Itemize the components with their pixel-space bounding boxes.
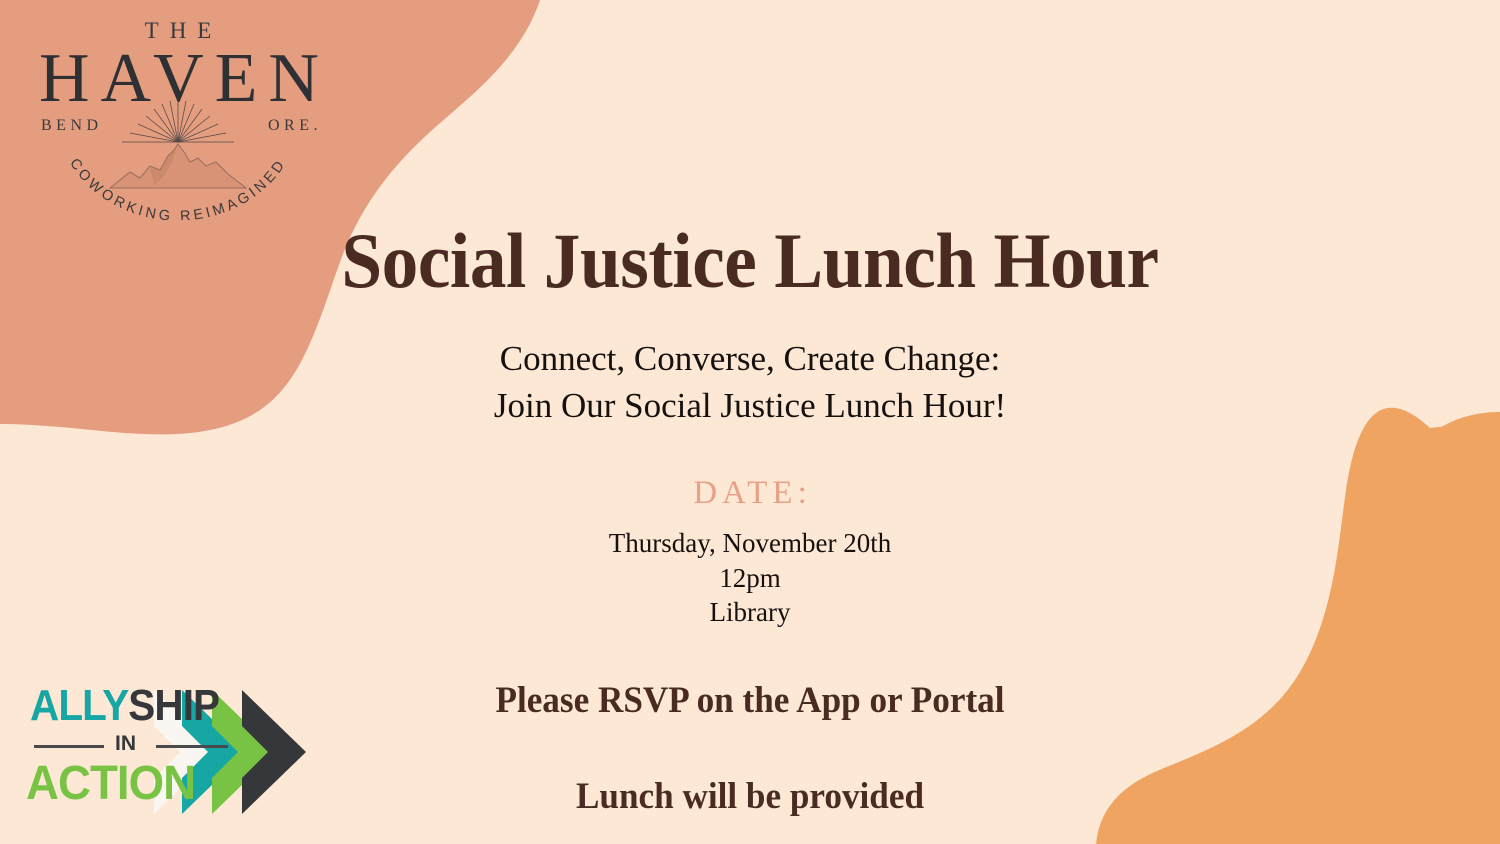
flyer-content: Social Justice Lunch Hour Connect, Conve…: [260, 0, 1240, 844]
lunch-note: Lunch will be provided: [285, 722, 1216, 818]
event-details: Thursday, November 20th 12pm Library: [260, 512, 1240, 630]
event-flyer: THE HAVEN BEND ORE.: [0, 0, 1500, 844]
date-label: DATE:: [260, 429, 1240, 512]
action-word: ACTION: [26, 760, 195, 808]
tagline-line-2: Join Our Social Justice Lunch Hour!: [494, 386, 1006, 425]
event-time-value: 12pm: [719, 563, 781, 593]
allyship-in-action-logo: ALLYSHIP IN ACTION: [24, 684, 324, 824]
haven-tagline-text: COWORKING REIMAGINED: [66, 156, 290, 220]
event-tagline: Connect, Converse, Create Change: Join O…: [260, 300, 1240, 429]
page-title: Social Justice Lunch Hour: [289, 0, 1210, 300]
tagline-line-1: Connect, Converse, Create Change:: [500, 339, 1001, 378]
ship-word: SHIP: [128, 681, 219, 730]
event-date-value: Thursday, November 20th: [609, 528, 891, 558]
in-word: IN: [115, 732, 136, 756]
allyship-wordmark: ALLYSHIP: [30, 684, 219, 728]
allyship-in-row: IN: [32, 730, 232, 758]
event-location-value: Library: [710, 597, 791, 627]
ally-word: ALLY: [30, 681, 128, 730]
rule-left: [34, 745, 104, 748]
rsvp-instruction: Please RSVP on the App or Portal: [285, 630, 1216, 722]
rule-right: [156, 745, 228, 748]
